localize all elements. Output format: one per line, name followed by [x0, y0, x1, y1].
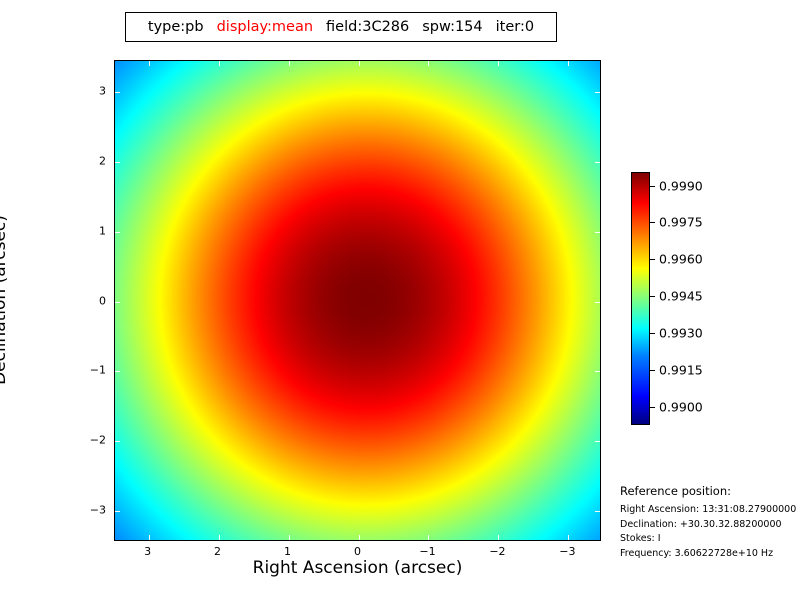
colorbar-tick-mark: [650, 296, 655, 297]
reference-declination: Declination: +30.30.32.88200000: [620, 518, 800, 533]
x-tick-mark: [219, 61, 220, 66]
x-tick-mark: [428, 61, 429, 66]
y-tick-mark: [595, 371, 600, 372]
x-tick-mark: [219, 535, 220, 540]
y-axis-label-text: Declination (arcsec): [0, 215, 10, 385]
reference-position-block: Reference position: Right Ascension: 13:…: [620, 484, 800, 562]
colorbar-tick-mark: [650, 370, 655, 371]
colorbar-tick-mark: [650, 333, 655, 334]
y-axis-label: Declination (arcsec): [0, 200, 10, 400]
x-tick-mark: [149, 535, 150, 540]
y-tick-label: −1: [90, 364, 106, 377]
x-tick-label: −2: [489, 545, 505, 558]
primary-beam-heatmap[interactable]: [115, 61, 600, 540]
y-tick-label: −2: [90, 434, 106, 447]
colorbar-tick-label: 0.9930: [659, 325, 703, 340]
colorbar-tick-label: 0.9945: [659, 289, 703, 304]
colorbar-tick-mark: [650, 186, 655, 187]
x-tick-label: −3: [559, 545, 575, 558]
x-tick-label: 3: [144, 545, 151, 558]
reference-stokes: Stokes: I: [620, 532, 800, 547]
colorbar-gradient: [631, 172, 650, 425]
primary-beam-image-panel[interactable]: [114, 60, 601, 541]
y-tick-mark: [115, 92, 120, 93]
colorbar-tick-label: 0.9990: [659, 178, 703, 193]
title-segment-type: type:pb: [148, 19, 204, 35]
y-tick-mark: [115, 511, 120, 512]
x-tick-mark: [149, 61, 150, 66]
colorbar-tick-label: 0.9900: [659, 399, 703, 414]
x-tick-mark: [359, 535, 360, 540]
x-tick-mark: [568, 535, 569, 540]
x-tick-mark: [289, 535, 290, 540]
reference-position-heading: Reference position:: [620, 484, 800, 498]
y-tick-label: 1: [99, 224, 106, 237]
colorbar-tick-mark: [650, 259, 655, 260]
colorbar-tick-label: 0.9915: [659, 362, 703, 377]
colorbar-tick-mark: [650, 222, 655, 223]
y-tick-mark: [595, 92, 600, 93]
y-tick-mark: [115, 302, 120, 303]
plot-title-bar: type:pb display:mean field:3C286 spw:154…: [125, 12, 557, 42]
x-tick-mark: [359, 61, 360, 66]
title-segment-display: display:mean: [217, 19, 313, 35]
title-segment-spw: spw:154: [422, 19, 482, 35]
y-tick-mark: [115, 232, 120, 233]
x-tick-label: 0: [354, 545, 361, 558]
x-tick-label: −1: [419, 545, 435, 558]
reference-frequency: Frequency: 3.60622728e+10 Hz: [620, 547, 800, 562]
y-tick-mark: [595, 162, 600, 163]
y-tick-label: 2: [99, 154, 106, 167]
x-tick-mark: [289, 61, 290, 66]
colorbar-tick-label: 0.9975: [659, 215, 703, 230]
y-tick-mark: [595, 441, 600, 442]
y-tick-mark: [115, 441, 120, 442]
x-tick-mark: [498, 61, 499, 66]
x-tick-mark: [428, 535, 429, 540]
x-axis-label: Right Ascension (arcsec): [114, 558, 601, 578]
y-tick-label: 0: [99, 294, 106, 307]
y-tick-label: −3: [90, 504, 106, 517]
colorbar-tick-mark: [650, 407, 655, 408]
y-tick-mark: [595, 302, 600, 303]
reference-right-ascension: Right Ascension: 13:31:08.27900000: [620, 503, 800, 518]
colorbar[interactable]: [631, 172, 650, 425]
title-segment-field: field:3C286: [326, 19, 409, 35]
x-tick-label: 2: [214, 545, 221, 558]
colorbar-tick-label: 0.9960: [659, 252, 703, 267]
y-tick-mark: [595, 232, 600, 233]
x-tick-label: 1: [284, 545, 291, 558]
y-tick-mark: [115, 371, 120, 372]
y-tick-label: 3: [99, 84, 106, 97]
x-tick-mark: [568, 61, 569, 66]
title-segment-iter: iter:0: [496, 19, 534, 35]
x-tick-mark: [498, 535, 499, 540]
y-tick-mark: [115, 162, 120, 163]
y-tick-mark: [595, 511, 600, 512]
